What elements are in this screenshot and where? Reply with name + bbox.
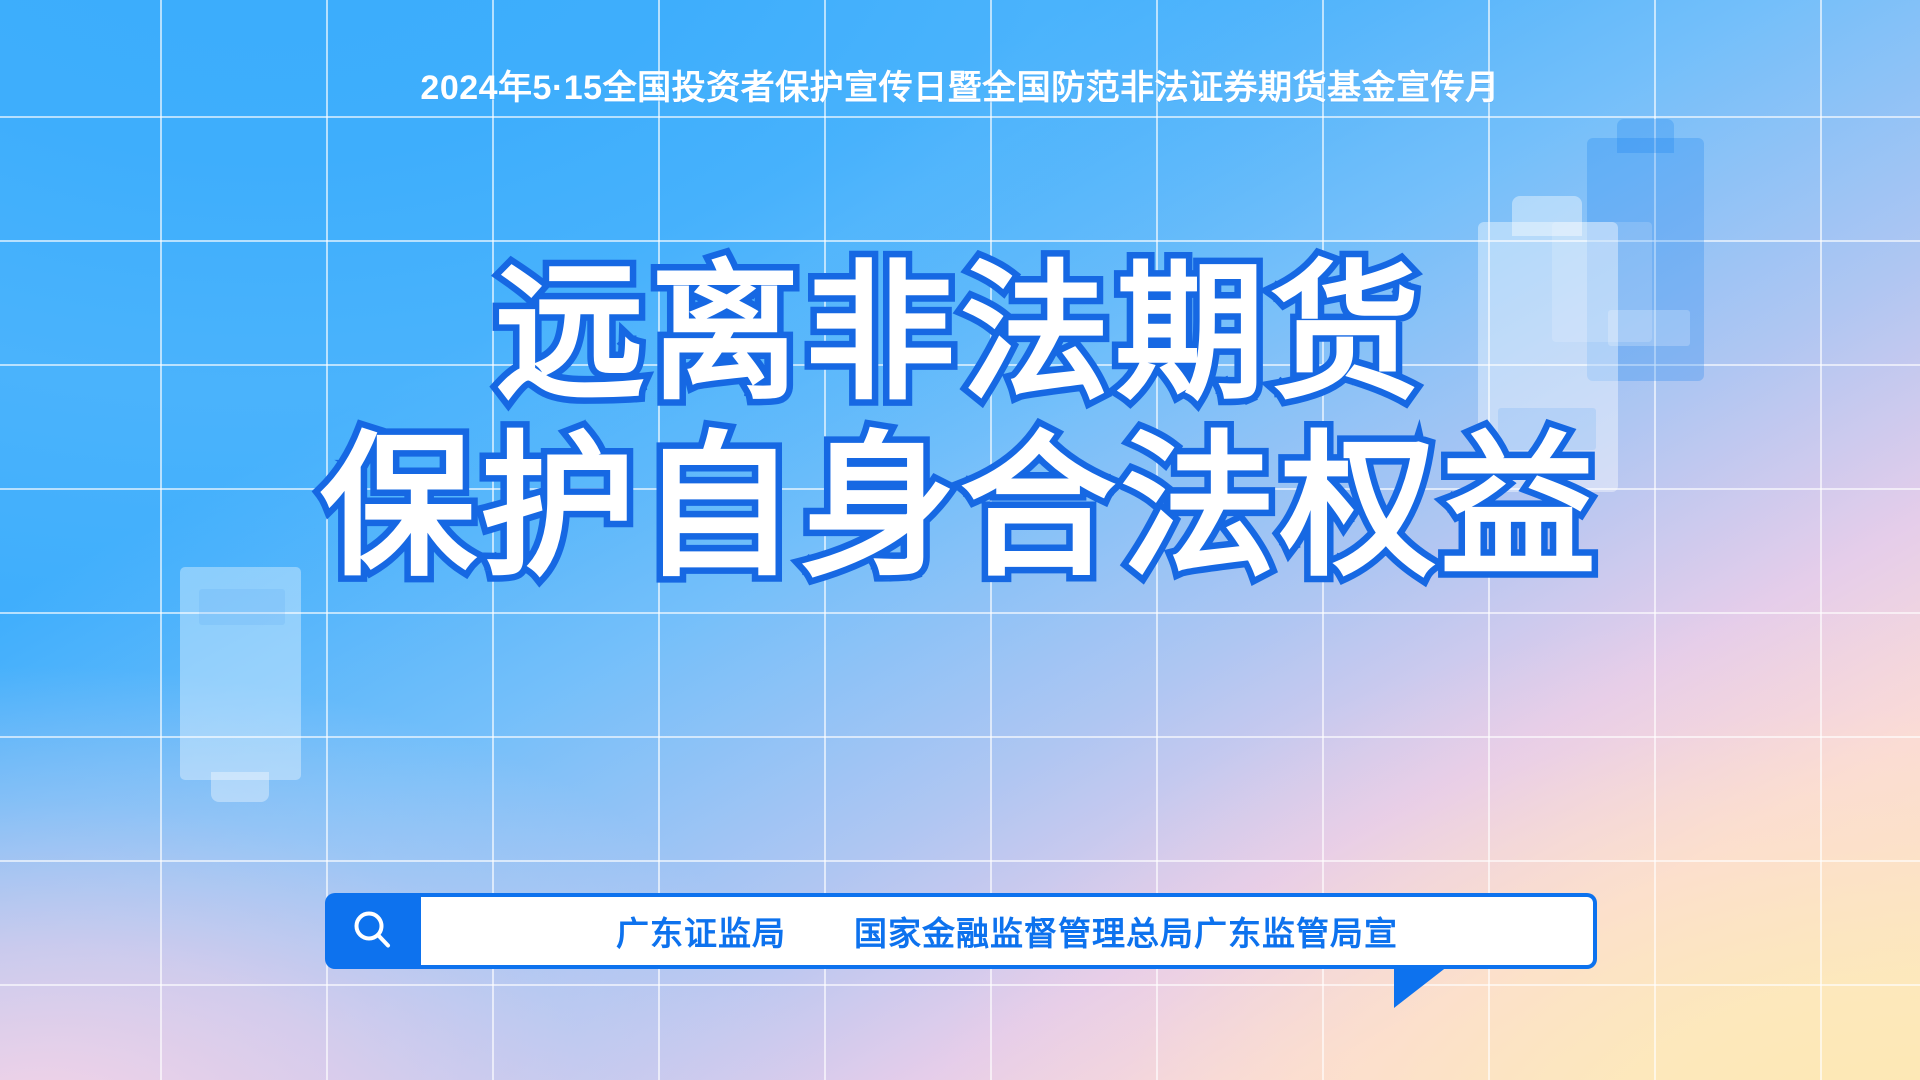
issuer-banner: 广东证监局 国家金融监督管理总局广东监管局宣	[325, 893, 1597, 969]
poster-canvas: 2024年5·15全国投资者保护宣传日暨全国防范非法证券期货基金宣传月 远离非法…	[0, 0, 1920, 1080]
issuer-banner-text: 广东证监局 国家金融监督管理总局广东监管局宣	[616, 907, 1398, 955]
headline-line-1: 远离非法期货	[0, 258, 1920, 408]
campaign-kicker-text: 2024年5·15全国投资者保护宣传日暨全国防范非法证券期货基金宣传月	[0, 60, 1920, 109]
issuer-banner-body: 广东证监局 国家金融监督管理总局广东监管局宣	[421, 893, 1597, 969]
headline-line-2: 保护自身合法权益	[0, 430, 1920, 586]
decor-candle-left-wick	[211, 772, 269, 802]
search-icon-container	[325, 893, 421, 969]
search-icon	[350, 908, 396, 954]
decor-rect-left-inner	[199, 589, 285, 625]
page-title: 远离非法期货 保护自身合法权益	[0, 258, 1920, 586]
issuer-banner-tail	[1394, 966, 1448, 1008]
